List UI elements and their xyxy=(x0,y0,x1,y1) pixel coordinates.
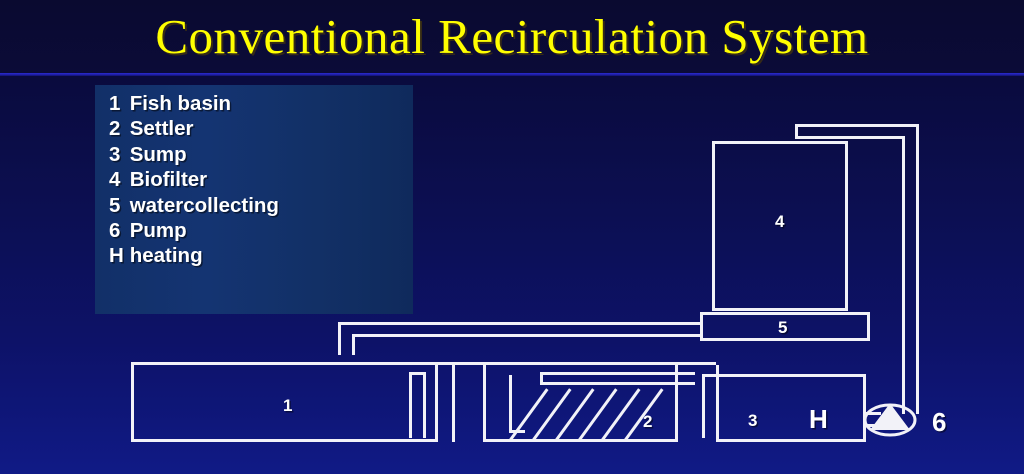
pump-riser-pipe-inner xyxy=(902,136,905,414)
legend-key: 2 xyxy=(109,116,124,141)
pump-icon xyxy=(862,396,918,444)
legend-label: heating xyxy=(130,244,203,267)
biofilter-label: 4 xyxy=(775,212,784,232)
return-pipe-top xyxy=(338,322,702,325)
list-item: 6 Pump xyxy=(109,218,279,243)
basin-standpipe-left xyxy=(409,372,412,438)
settler-launder-end xyxy=(540,372,543,385)
list-item: 2 Settler xyxy=(109,116,279,141)
list-item: 3 Sump xyxy=(109,142,279,167)
riser-top-outer xyxy=(795,124,919,127)
settler-v-baffle-left xyxy=(509,375,512,433)
riser-top-inner xyxy=(795,136,905,139)
legend-key: 4 xyxy=(109,167,124,192)
legend-label: Sump xyxy=(130,143,187,166)
basin-standpipe-right xyxy=(423,372,426,438)
fish-basin-label: 1 xyxy=(283,396,292,416)
return-pipe-bottom xyxy=(352,334,702,337)
watercollecting-label: 5 xyxy=(778,318,787,338)
title-divider xyxy=(0,73,1024,76)
basin-to-settler-wall xyxy=(452,362,455,442)
list-item: 5 watercollecting xyxy=(109,193,279,218)
legend-label: watercollecting xyxy=(130,194,279,217)
list-item: 4 Biofilter xyxy=(109,167,279,192)
settler-to-sump-standpipe-left xyxy=(702,374,705,438)
pump-riser-pipe-outer xyxy=(916,124,919,414)
sump-label: 3 xyxy=(748,411,757,431)
heating-label: H xyxy=(809,404,828,435)
settler-launder-top xyxy=(540,372,695,375)
pump-label: 6 xyxy=(932,407,946,438)
legend-label: Biofilter xyxy=(130,168,207,191)
legend-key: H xyxy=(109,243,124,268)
legend-key: 3 xyxy=(109,142,124,167)
sump-vessel xyxy=(716,374,866,442)
page-title: Conventional Recirculation System xyxy=(0,8,1024,65)
settler-to-sump-lip-top xyxy=(678,362,716,365)
return-pipe-down-outer xyxy=(338,322,341,355)
list-item: 1 Fish basin xyxy=(109,91,279,116)
legend-panel: 1 Fish basin 2 Settler 3 Sump 4 Biofilte… xyxy=(95,85,413,314)
settler-launder-bottom xyxy=(540,382,695,385)
slide-canvas: Conventional Recirculation System 1 Fish… xyxy=(0,0,1024,474)
legend-label: Fish basin xyxy=(130,92,231,115)
basin-standpipe-cap xyxy=(409,372,426,375)
legend-key: 6 xyxy=(109,218,124,243)
return-pipe-down-inner xyxy=(352,334,355,355)
legend-key: 5 xyxy=(109,193,124,218)
legend-label: Pump xyxy=(130,219,187,242)
list-item: H heating xyxy=(109,243,279,268)
legend-key: 1 xyxy=(109,91,124,116)
legend-label: Settler xyxy=(130,117,194,140)
legend-list: 1 Fish basin 2 Settler 3 Sump 4 Biofilte… xyxy=(109,91,279,269)
biofilter-inlet-nozzle xyxy=(795,124,798,139)
